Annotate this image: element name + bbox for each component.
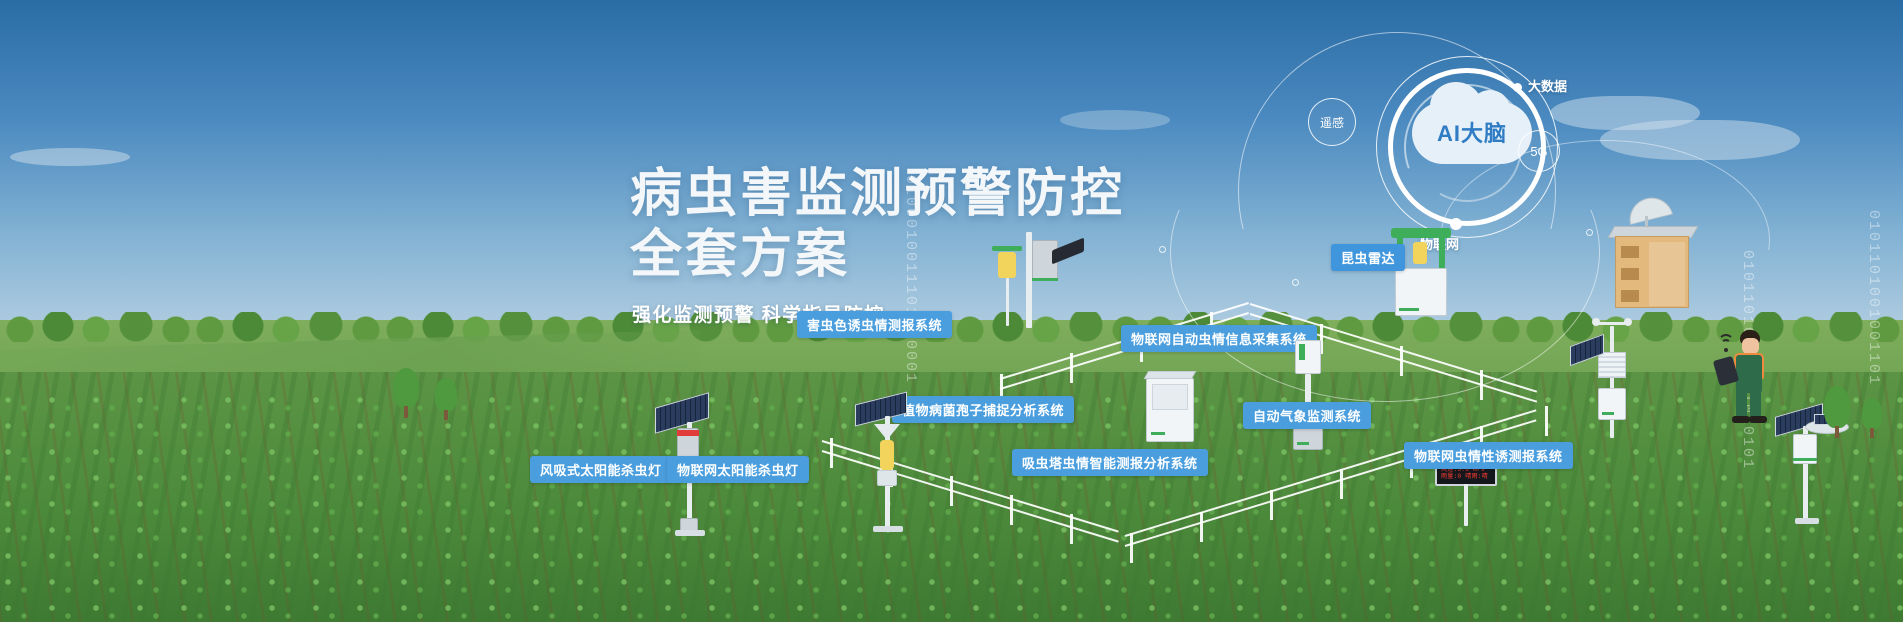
label-weather-station[interactable]: 自动气象监测系统: [1243, 402, 1371, 429]
tower-window: [1621, 290, 1639, 302]
tree-canopy: [435, 378, 457, 412]
device-spore-catcher: [1146, 378, 1206, 450]
cabinet-panel: [1152, 384, 1188, 410]
cloud-shape: [1060, 110, 1170, 130]
datalogger-cabinet: [1598, 388, 1626, 420]
binary-stream-edge: 0101101001001101: [1866, 210, 1881, 386]
weather-mast: [1610, 326, 1614, 438]
accent-stripe: [1151, 432, 1165, 435]
label-insect-radar[interactable]: 昆虫雷达: [1331, 244, 1405, 271]
cabinet-top: [1144, 371, 1197, 379]
indicator-band: [677, 430, 699, 436]
tower-window: [1621, 268, 1639, 280]
collector-leg: [1439, 238, 1445, 268]
fence-post: [1480, 370, 1483, 400]
device-iot-collector: [1385, 228, 1465, 328]
fence-post: [1130, 533, 1133, 563]
device-insect-radar: [1605, 198, 1715, 318]
accent-stripe: [1297, 442, 1309, 445]
tree-canopy: [1824, 386, 1850, 428]
lamp-tube: [880, 440, 894, 470]
lamp-shade: [874, 424, 900, 440]
device-suction-tower: [1285, 340, 1335, 450]
fence-post: [950, 476, 953, 506]
accent-stripe: [1299, 344, 1305, 360]
fence-post: [1340, 469, 1343, 499]
label-wind-solar-lamp[interactable]: 风吸式太阳能杀虫灯: [530, 456, 672, 483]
label-suction-tower[interactable]: 吸虫塔虫情智能测报分析系统: [1012, 449, 1208, 476]
connector-endpoint-dot: [1159, 246, 1166, 253]
farmer-shoe: [1732, 416, 1750, 423]
accent-stripe: [1602, 412, 1614, 415]
lure-lamp: [1413, 242, 1427, 264]
trap-roof: [992, 246, 1022, 251]
lamp-base: [873, 526, 903, 532]
fence-post: [1070, 353, 1073, 383]
farmer-figure: [1716, 328, 1786, 424]
label-iot-solar-lamp[interactable]: 物联网太阳能杀虫灯: [667, 456, 809, 483]
connector-endpoint-dot: [1292, 279, 1299, 286]
farmer-head: [1742, 338, 1759, 354]
accent-stripe: [1032, 278, 1058, 281]
lamp-base: [675, 530, 705, 536]
device-color-trap: [990, 232, 1080, 327]
fence-post: [1270, 490, 1273, 520]
sign-pole: [1464, 484, 1468, 526]
collection-cup: [877, 470, 897, 486]
tree-trunk: [404, 406, 408, 418]
fence-post: [830, 438, 833, 468]
accent-stripe: [1793, 458, 1817, 461]
fence-post: [1400, 346, 1403, 376]
led-line-4: 雨量:0 晴雨:晴: [1441, 474, 1491, 481]
ai-brain-label: AI大脑: [1412, 116, 1532, 148]
ai-brain-diagram: AI大脑 遥感 大数据 5G 物联网: [1330, 36, 1610, 236]
cloud-shape: [10, 148, 130, 166]
lure-panel: [998, 252, 1016, 278]
accent-stripe: [1399, 308, 1419, 311]
fence-post: [1545, 406, 1548, 436]
farmer-leg: [1750, 388, 1761, 418]
node-bigdata-label[interactable]: 大数据: [1528, 76, 1567, 95]
radar-dish-icon: [1625, 193, 1673, 225]
device-iot-solar-lamp: [855, 398, 925, 548]
trap-pole: [1006, 278, 1009, 326]
connector-endpoint-dot: [1586, 229, 1593, 236]
tree-trunk: [444, 410, 448, 420]
collector-roof: [1391, 228, 1451, 238]
headline-line-1: 病虫害监测预警防控: [630, 165, 1125, 223]
tree-canopy: [1862, 398, 1882, 430]
tree-trunk: [1870, 428, 1874, 438]
label-sex-lure[interactable]: 物联网虫情性诱测报系统: [1404, 442, 1573, 469]
node-bigdata-dot: [1513, 83, 1522, 92]
farmer-leg: [1736, 388, 1747, 418]
tower-facade: [1649, 242, 1685, 306]
fence-post: [1070, 514, 1073, 544]
radiation-shield: [1598, 352, 1626, 378]
tree-canopy: [393, 368, 419, 408]
device-base: [1795, 518, 1819, 524]
pest-monitoring-banner: 0100010011101010001 0 010110100100110101…: [0, 0, 1903, 622]
fence-post: [1010, 495, 1013, 525]
fence-post: [1200, 512, 1203, 542]
tower-window: [1621, 246, 1639, 258]
anemometer-cup: [1592, 318, 1600, 326]
device-weather-station: [1570, 326, 1660, 446]
tower-base-cabinet: [1293, 428, 1323, 450]
farmer-shoe: [1749, 416, 1767, 423]
tree-trunk: [1835, 426, 1839, 438]
wifi-dot-icon: [1724, 348, 1728, 352]
label-color-trap[interactable]: 害虫色诱虫情测报系统: [797, 311, 952, 338]
anemometer-cup: [1624, 318, 1632, 326]
node-remote-sensing[interactable]: 遥感: [1308, 98, 1356, 146]
